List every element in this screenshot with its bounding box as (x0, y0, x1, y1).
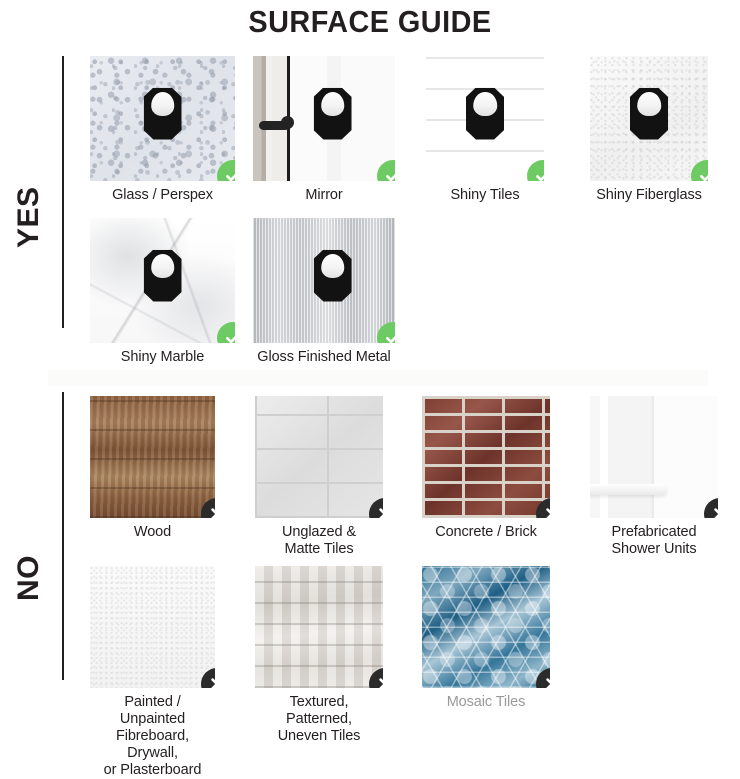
surface-swatch (255, 566, 383, 688)
surface-swatch (255, 396, 383, 518)
surface-label: Concrete / Brick (422, 524, 550, 541)
surface-swatch (90, 396, 215, 518)
door-handle-icon (259, 121, 290, 130)
surface-swatch (90, 56, 235, 181)
surface-card-prefabricated-shower-units[interactable]: PrefabricatedShower Units (590, 396, 718, 558)
texture-mosaic-tiles (422, 566, 550, 688)
texture-brick (422, 396, 550, 518)
surface-card-wood[interactable]: Wood (90, 396, 215, 541)
hook-product-icon (144, 88, 182, 140)
surface-label: Glass / Perspex (90, 187, 235, 204)
surface-card-mosaic-tiles[interactable]: Mosaic Tiles (422, 566, 550, 711)
surface-card-unglazed-matte-tiles[interactable]: Unglazed &Matte Tiles (255, 396, 383, 558)
hook-product-icon (630, 88, 668, 140)
surface-card-textured-patterned-tiles[interactable]: Textured, Patterned,Uneven Tiles (255, 566, 383, 745)
surface-label: Unglazed &Matte Tiles (255, 524, 383, 558)
surface-swatch (422, 566, 550, 688)
texture-painted-board (90, 566, 215, 688)
surface-label: Textured, Patterned,Uneven Tiles (255, 694, 383, 745)
section-divider-no (62, 392, 64, 680)
surface-label: Painted / UnpaintedFibreboard, Drywall,o… (90, 694, 215, 779)
surface-label: Wood (90, 524, 215, 541)
surface-label: Shiny Marble (90, 349, 235, 366)
surface-label: Mosaic Tiles (422, 694, 550, 711)
texture-wood (90, 396, 215, 518)
surface-label: Gloss Finished Metal (253, 349, 395, 366)
surface-swatch (422, 396, 550, 518)
hook-product-icon (314, 250, 352, 302)
surface-label: Mirror (253, 187, 395, 204)
section-separator-band (48, 370, 708, 386)
surface-card-gloss-finished-metal[interactable]: Gloss Finished Metal (253, 218, 395, 366)
surface-card-shiny-tiles[interactable]: Shiny Tiles (426, 56, 544, 204)
surface-card-mirror[interactable]: Mirror (253, 56, 395, 204)
surface-swatch (590, 396, 718, 518)
section-divider-yes (62, 56, 64, 328)
surface-card-painted-fibreboard[interactable]: Painted / UnpaintedFibreboard, Drywall,o… (90, 566, 215, 779)
surface-card-glass-perspex[interactable]: Glass / Perspex (90, 56, 235, 204)
hook-product-icon (144, 250, 182, 302)
surface-swatch (590, 56, 708, 181)
surface-card-shiny-marble[interactable]: Shiny Marble (90, 218, 235, 366)
surface-label: Shiny Fiberglass (590, 187, 708, 204)
texture-unglazed-tiles (255, 396, 383, 518)
surface-card-shiny-fiberglass[interactable]: Shiny Fiberglass (590, 56, 708, 204)
texture-prefab-shower (590, 396, 718, 518)
texture-textured-tiles (255, 566, 383, 688)
surface-label: PrefabricatedShower Units (590, 524, 718, 558)
surface-swatch (426, 56, 544, 181)
section-label-no: NO (12, 538, 46, 618)
no-section: NO Wood Unglazed & (0, 388, 740, 740)
yes-section: YES Glass / Perspex (0, 52, 740, 370)
surface-swatch (90, 218, 235, 343)
surface-swatch (90, 566, 215, 688)
surface-swatch (253, 56, 395, 181)
surface-card-concrete-brick[interactable]: Concrete / Brick (422, 396, 550, 541)
surface-guide-page: SURFACE GUIDE YES Glass / Perspex (0, 0, 740, 740)
hook-product-icon (466, 88, 504, 140)
section-label-yes: YES (12, 172, 46, 262)
shower-shelf-icon (590, 484, 667, 495)
surface-swatch (253, 218, 395, 343)
surface-label: Shiny Tiles (426, 187, 544, 204)
page-title: SURFACE GUIDE (26, 0, 714, 44)
hook-product-icon (314, 88, 352, 140)
